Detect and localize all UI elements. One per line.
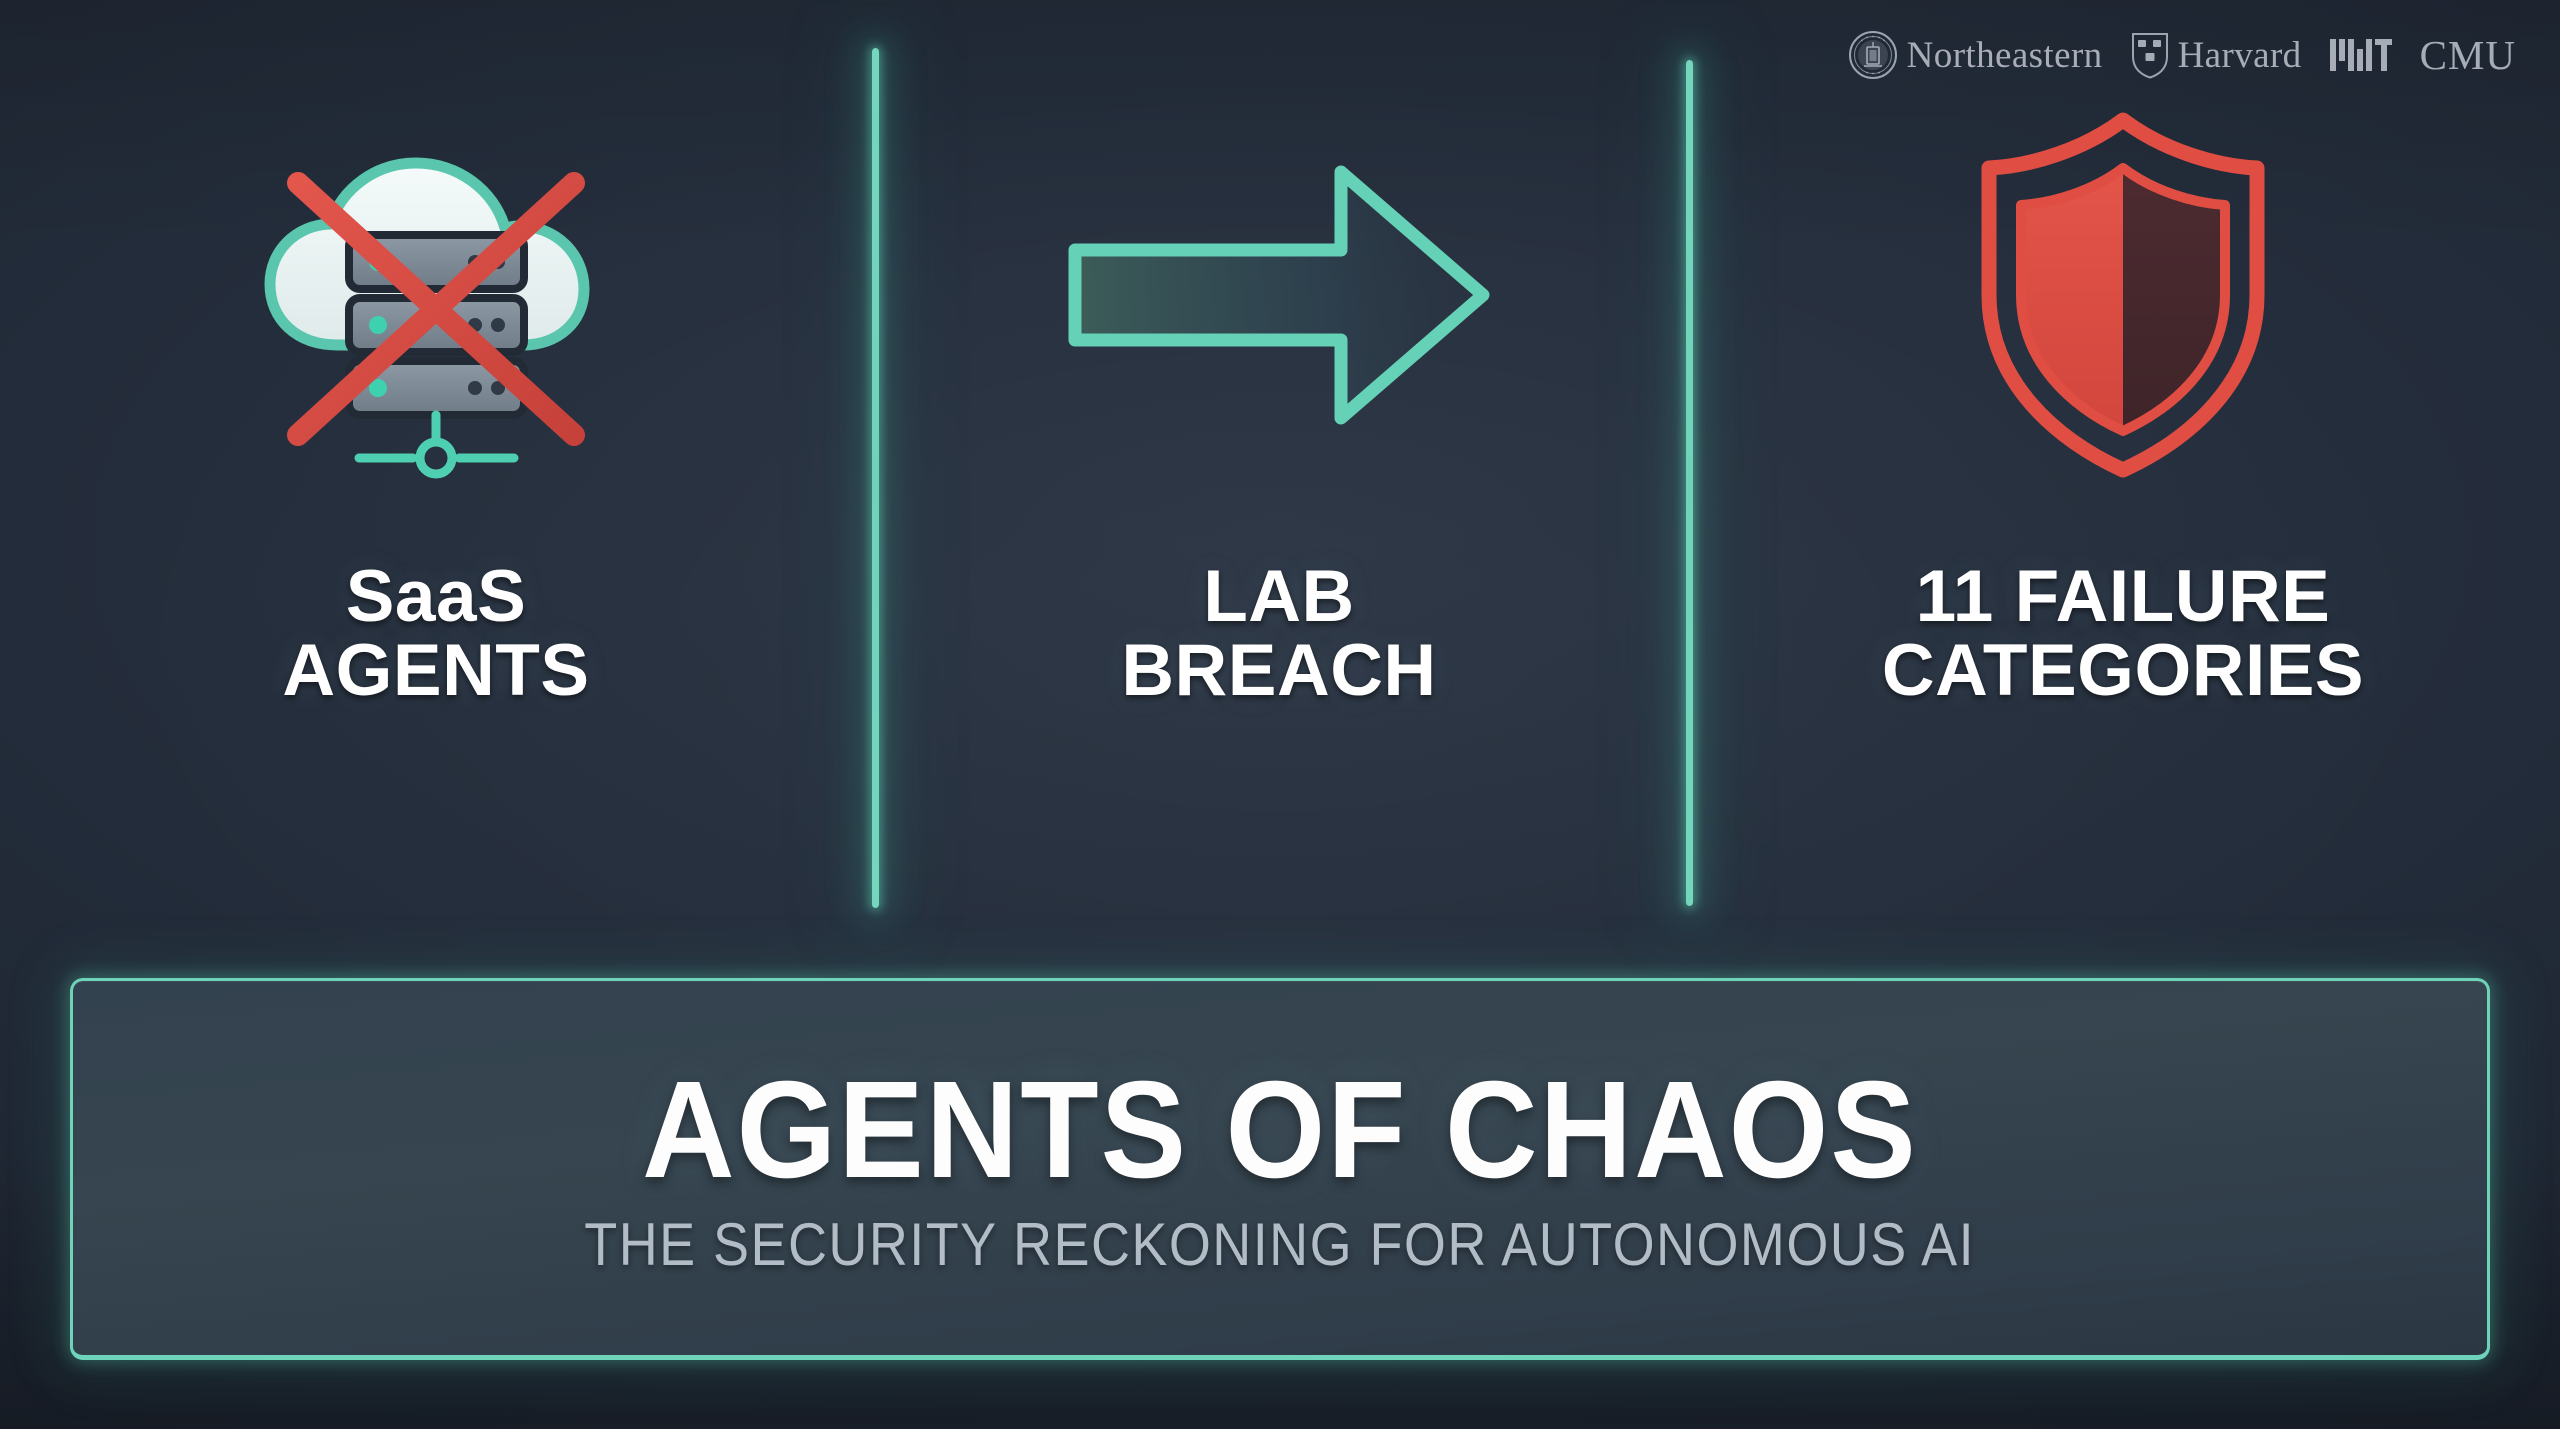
column-label-saas-agents: SaaS AGENTS: [282, 560, 589, 709]
column-label-line2: CATEGORIES: [1882, 634, 2364, 708]
harvard-shield-icon: [2131, 31, 2169, 79]
title-banner: AGENTS OF CHAOS THE SECURITY RECKONING F…: [70, 978, 2490, 1360]
column-lab-breach: LAB BREACH: [872, 0, 1686, 930]
columns-row: SaaS AGENTS LAB: [0, 0, 2560, 930]
logo-harvard: Harvard: [2131, 31, 2302, 79]
poster-canvas: Northeastern Harvard: [0, 0, 2560, 1429]
university-logo-strip: Northeastern Harvard: [1848, 30, 2516, 80]
shield-icon: [1686, 0, 2560, 560]
logo-northeastern: Northeastern: [1848, 30, 2103, 80]
logo-cmu: CMU: [2420, 31, 2516, 79]
cmu-wordmark-icon: CMU: [2420, 31, 2516, 79]
column-failure-categories: 11 FAILURE CATEGORIES: [1686, 0, 2560, 930]
logo-mit: [2330, 37, 2392, 73]
logo-label-harvard: Harvard: [2178, 34, 2302, 77]
column-label-line1: 11 FAILURE: [1916, 556, 2331, 637]
column-label-failure-categories: 11 FAILURE CATEGORIES: [1882, 560, 2364, 709]
column-label-lab-breach: LAB BREACH: [1121, 560, 1436, 709]
logo-label-northeastern: Northeastern: [1907, 34, 2103, 77]
column-label-line1: SaaS: [346, 556, 527, 637]
mit-logo-icon: [2330, 37, 2392, 73]
page-subtitle: THE SECURITY RECKONING FOR AUTONOMOUS AI: [585, 1215, 1976, 1275]
column-label-line2: BREACH: [1121, 634, 1436, 708]
right-arrow-icon: [872, 0, 1686, 560]
northeastern-seal-icon: [1848, 30, 1898, 80]
cloud-server-disabled-icon: [0, 0, 872, 560]
column-label-line2: AGENTS: [282, 634, 589, 708]
column-saas-agents: SaaS AGENTS: [0, 0, 872, 930]
column-label-line1: LAB: [1203, 556, 1355, 637]
page-title: AGENTS OF CHAOS: [642, 1061, 1918, 1199]
